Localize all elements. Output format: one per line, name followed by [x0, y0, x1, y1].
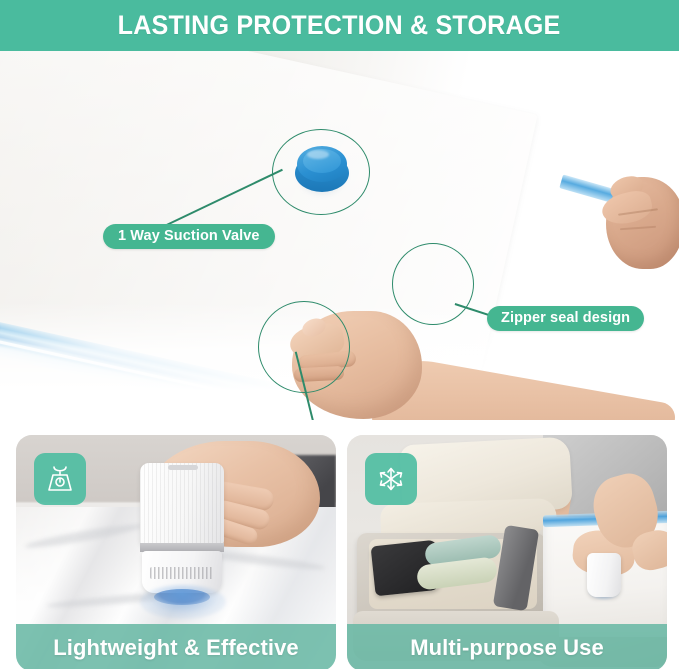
hero-product-photo: 1 Way Suction Valve Zipper seal design F… [0, 51, 679, 420]
callout-label-suction-valve: 1 Way Suction Valve [103, 224, 275, 249]
kitchen-scale-icon [34, 453, 86, 505]
panel-caption-lightweight: Lightweight & Effective [16, 624, 336, 669]
infographic-root: LASTING PROTECTION & STORAGE [0, 0, 679, 669]
expand-arrows-icon [365, 453, 417, 505]
pump-body-upper [140, 463, 224, 545]
panel-caption-text: Multi-purpose Use [410, 635, 604, 661]
panel-lightweight-effective: Lightweight & Effective [16, 435, 336, 669]
panel-multi-purpose-use: Multi-purpose Use [347, 435, 667, 669]
callout-label-zipper-seal-design: Zipper seal design [487, 306, 644, 331]
pump-suction-foot [154, 589, 210, 605]
pump-air-vents [150, 567, 214, 579]
feature-panels: Lightweight & Effective [0, 423, 679, 669]
pump-cap-slot [168, 465, 198, 470]
kitchen-scale-glyph [44, 463, 76, 495]
hand-pinching-zipper [598, 167, 679, 279]
expand-arrows-glyph [375, 463, 407, 495]
panel-caption-multipurpose: Multi-purpose Use [347, 624, 667, 669]
annotation-ring-zipper [392, 243, 474, 325]
panel-caption-text: Lightweight & Effective [53, 635, 299, 661]
annotation-ring-valve [272, 129, 370, 215]
page-title: LASTING PROTECTION & STORAGE [118, 10, 561, 41]
annotation-ring-full-seal [258, 301, 350, 393]
vacuum-pump-device [587, 553, 621, 597]
header-banner: LASTING PROTECTION & STORAGE [0, 0, 679, 51]
